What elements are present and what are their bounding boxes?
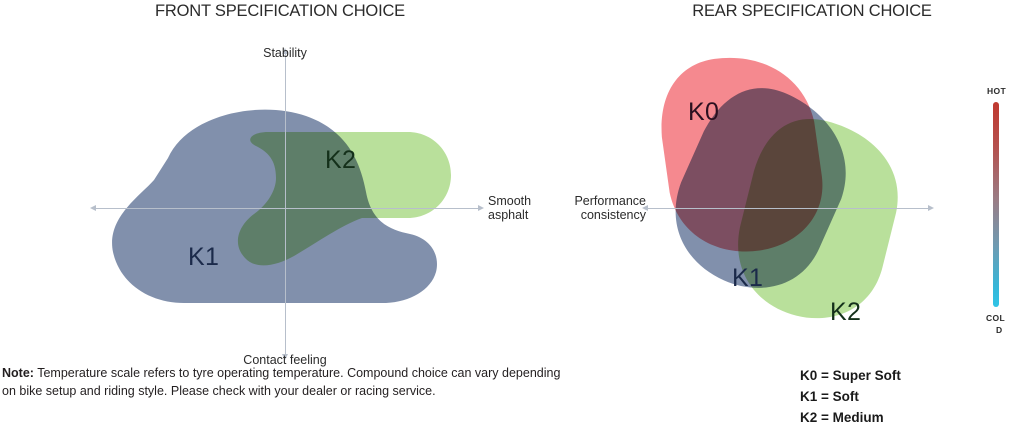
temperature-cold-label-line1: COL [986, 313, 1005, 323]
rear-axis-label-left-line2: asphalt [488, 208, 528, 222]
legend-row-k0: K0 = Super Soft [800, 365, 901, 386]
note-body: Temperature scale refers to tyre operati… [2, 366, 560, 398]
rear-x-axis-right-arrow-icon [928, 205, 934, 211]
rear-blob-label-k2: K2 [830, 298, 861, 327]
note-text: Note: Temperature scale refers to tyre o… [2, 364, 562, 400]
rear-blob-stage: K0 K1 K2 [600, 28, 980, 358]
rear-blob-label-k0: K0 [688, 98, 719, 127]
front-x-axis-left-arrow-icon [90, 205, 96, 211]
rear-axis-label-left: Smooth asphalt [488, 194, 638, 222]
compound-legend: K0 = Super Soft K1 = Soft K2 = Medium [800, 365, 901, 428]
temperature-hot-label: HOT [987, 86, 1006, 96]
rear-chart-title: REAR SPECIFICATION CHOICE [600, 2, 1024, 21]
front-chart-title: FRONT SPECIFICATION CHOICE [0, 2, 560, 21]
front-axis-label-top: Stability [235, 46, 335, 60]
front-chart-panel: K1 K2 Stability Contact feeling Peak per… [0, 28, 590, 358]
rear-x-axis [648, 208, 928, 209]
front-axis-label-left: Peak performance [0, 194, 86, 222]
rear-blob-label-k1: K1 [732, 264, 763, 293]
rear-chart-panel: K0 K1 K2 Smooth asphalt Severe asphalt [600, 28, 980, 358]
temperature-cold-label-line2: D [986, 324, 1016, 336]
tyre-specification-infographic: FRONT SPECIFICATION CHOICE K1 K2 [0, 0, 1024, 438]
rear-axis-label-left-line1: Smooth [488, 194, 531, 208]
front-blob-label-k2: K2 [325, 146, 356, 175]
front-axis-label-bottom: Contact feeling [215, 353, 355, 367]
front-x-axis-right-arrow-icon [478, 205, 484, 211]
temperature-cold-label: COL D [986, 312, 1016, 336]
front-y-axis [285, 54, 286, 354]
note-prefix: Note: [2, 366, 34, 380]
legend-row-k1: K1 = Soft [800, 386, 901, 407]
legend-row-k2: K2 = Medium [800, 407, 901, 428]
rear-axis-label-right: Severe asphalt [936, 194, 1024, 222]
front-blob-label-k1: K1 [188, 243, 219, 272]
front-blob-stage: K1 K2 [0, 28, 590, 358]
front-x-axis [96, 208, 478, 209]
